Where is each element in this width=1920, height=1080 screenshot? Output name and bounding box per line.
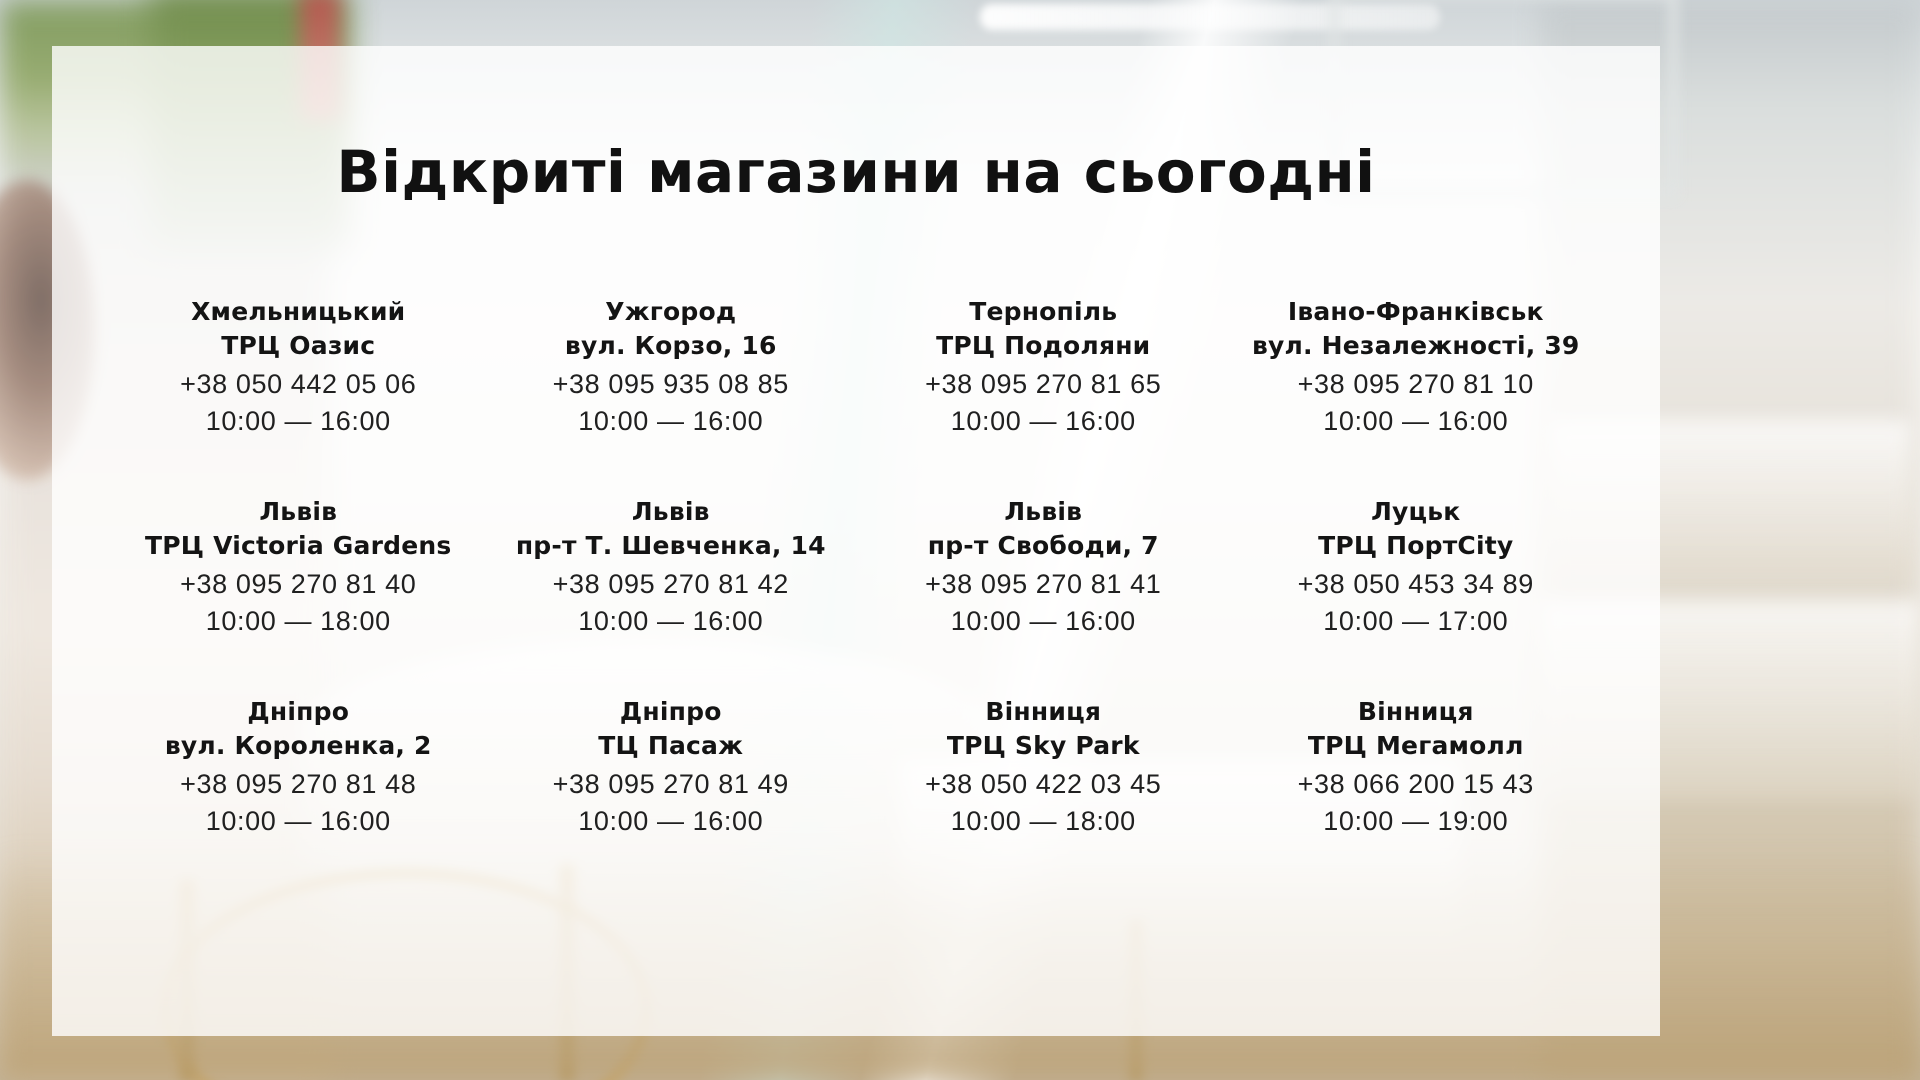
store-hours: 10:00 — 18:00: [112, 604, 485, 638]
store-phone[interactable]: +38 095 270 81 48: [112, 767, 485, 801]
store-phone[interactable]: +38 095 270 81 42: [485, 567, 858, 601]
store-card[interactable]: Тернопіль ТРЦ Подоляни +38 095 270 81 65…: [857, 296, 1230, 496]
store-city: Хмельницький: [112, 296, 485, 328]
store-address: ТРЦ Victoria Gardens: [112, 530, 485, 562]
store-hours: 10:00 — 16:00: [857, 404, 1230, 438]
store-hours: 10:00 — 16:00: [112, 804, 485, 838]
store-hours: 10:00 — 16:00: [485, 404, 858, 438]
store-phone[interactable]: +38 095 270 81 65: [857, 367, 1230, 401]
store-card[interactable]: Львів ТРЦ Victoria Gardens +38 095 270 8…: [112, 496, 485, 696]
store-hours: 10:00 — 19:00: [1230, 804, 1603, 838]
page-title: Відкриті магазини на сьогодні: [52, 138, 1660, 206]
store-phone[interactable]: +38 050 442 05 06: [112, 367, 485, 401]
store-hours: 10:00 — 16:00: [857, 604, 1230, 638]
store-card[interactable]: Хмельницький ТРЦ Оазис +38 050 442 05 06…: [112, 296, 485, 496]
store-address: вул. Короленка, 2: [112, 730, 485, 762]
store-card[interactable]: Львів пр-т Т. Шевченка, 14 +38 095 270 8…: [485, 496, 858, 696]
store-phone[interactable]: +38 050 422 03 45: [857, 767, 1230, 801]
store-city: Ужгород: [485, 296, 858, 328]
store-card[interactable]: Дніпро вул. Короленка, 2 +38 095 270 81 …: [112, 696, 485, 896]
store-address: ТРЦ Подоляни: [857, 330, 1230, 362]
store-address: ТРЦ Оазис: [112, 330, 485, 362]
store-address: ТРЦ Мегамолл: [1230, 730, 1603, 762]
store-address: пр-т Свободи, 7: [857, 530, 1230, 562]
store-city: Дніпро: [485, 696, 858, 728]
poster-canvas: Відкриті магазини на сьогодні Хмельницьк…: [0, 0, 1920, 1080]
store-address: вул. Корзо, 16: [485, 330, 858, 362]
store-hours: 10:00 — 16:00: [485, 804, 858, 838]
store-hours: 10:00 — 17:00: [1230, 604, 1603, 638]
store-card[interactable]: Дніпро ТЦ Пасаж +38 095 270 81 49 10:00 …: [485, 696, 858, 896]
store-phone[interactable]: +38 095 270 81 41: [857, 567, 1230, 601]
store-phone[interactable]: +38 095 270 81 40: [112, 567, 485, 601]
store-hours: 10:00 — 18:00: [857, 804, 1230, 838]
store-city: Львів: [485, 496, 858, 528]
store-address: ТРЦ Sky Park: [857, 730, 1230, 762]
store-address: пр-т Т. Шевченка, 14: [485, 530, 858, 562]
store-city: Тернопіль: [857, 296, 1230, 328]
store-hours: 10:00 — 16:00: [485, 604, 858, 638]
store-address: ТЦ Пасаж: [485, 730, 858, 762]
store-city: Івано-Франківськ: [1230, 296, 1603, 328]
content-panel: Відкриті магазини на сьогодні Хмельницьк…: [52, 46, 1660, 1036]
store-hours: 10:00 — 16:00: [1230, 404, 1603, 438]
store-city: Вінниця: [857, 696, 1230, 728]
store-card[interactable]: Ужгород вул. Корзо, 16 +38 095 935 08 85…: [485, 296, 858, 496]
store-city: Луцьк: [1230, 496, 1603, 528]
store-phone[interactable]: +38 095 270 81 49: [485, 767, 858, 801]
store-card[interactable]: Вінниця ТРЦ Мегамолл +38 066 200 15 43 1…: [1230, 696, 1603, 896]
store-phone[interactable]: +38 095 270 81 10: [1230, 367, 1603, 401]
store-city: Львів: [857, 496, 1230, 528]
store-city: Вінниця: [1230, 696, 1603, 728]
store-card[interactable]: Івано-Франківськ вул. Незалежності, 39 +…: [1230, 296, 1603, 496]
store-hours: 10:00 — 16:00: [112, 404, 485, 438]
store-address: ТРЦ ПортCity: [1230, 530, 1603, 562]
store-phone[interactable]: +38 050 453 34 89: [1230, 567, 1603, 601]
store-card[interactable]: Львів пр-т Свободи, 7 +38 095 270 81 41 …: [857, 496, 1230, 696]
store-city: Дніпро: [112, 696, 485, 728]
store-address: вул. Незалежності, 39: [1230, 330, 1603, 362]
store-card[interactable]: Вінниця ТРЦ Sky Park +38 050 422 03 45 1…: [857, 696, 1230, 896]
store-card[interactable]: Луцьк ТРЦ ПортCity +38 050 453 34 89 10:…: [1230, 496, 1603, 696]
store-phone[interactable]: +38 095 935 08 85: [485, 367, 858, 401]
store-grid: Хмельницький ТРЦ Оазис +38 050 442 05 06…: [112, 296, 1602, 896]
store-city: Львів: [112, 496, 485, 528]
store-phone[interactable]: +38 066 200 15 43: [1230, 767, 1603, 801]
